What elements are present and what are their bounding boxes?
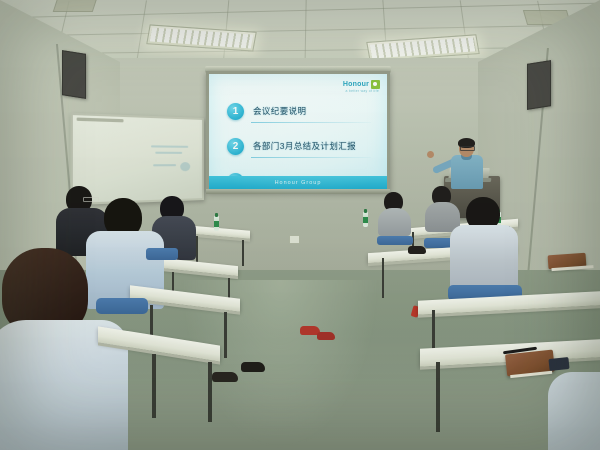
marker-tray	[77, 117, 124, 122]
desk-leg	[224, 312, 227, 358]
smartphone-dark	[548, 357, 569, 371]
wall-speaker-left-icon	[62, 50, 86, 99]
desk-leg	[242, 240, 244, 266]
bullet-text: 会议纪要说明	[253, 105, 306, 117]
slide-footer-bar: Honour Group	[209, 176, 387, 189]
bullet-number-badge: 2	[227, 138, 244, 155]
desk-leg	[208, 362, 212, 422]
screen-bottom-weight-bar	[206, 189, 390, 194]
presenter-torso	[451, 155, 483, 189]
leather-notebook	[548, 253, 587, 270]
bullet-underline	[251, 157, 371, 158]
stacking-chair	[146, 248, 178, 260]
water-bottle-left	[363, 212, 368, 227]
wall-speaker-right-icon	[527, 60, 551, 110]
presenter-hand	[427, 151, 434, 158]
leather-notebook	[505, 350, 555, 377]
stacking-chair	[377, 236, 413, 245]
desk-leg	[436, 362, 440, 432]
dark-shoes	[408, 246, 426, 254]
logo-text: Honour	[343, 81, 369, 88]
attendee-torso	[378, 208, 411, 236]
attendee-torso	[548, 372, 600, 450]
slide-footer-text: Honour Group	[275, 180, 322, 186]
ceiling-vent-left	[53, 0, 98, 12]
presentation-slide: Honour a better way of life 1 会议纪要说明 2 各…	[209, 74, 387, 189]
logo-mark-icon	[371, 80, 380, 89]
water-bottle-center	[214, 216, 219, 231]
bullet-text: 各部门3月总结及计划汇报	[253, 140, 356, 152]
attendee-torso	[450, 225, 518, 291]
whiteboard	[70, 113, 204, 206]
whiteboard-faint-writing	[149, 143, 196, 179]
red-shoes	[317, 332, 335, 340]
desk-leg	[196, 236, 198, 262]
meeting-room-photo: Honour a better way of life 1 会议纪要说明 2 各…	[0, 0, 600, 450]
projection-screen: Honour a better way of life 1 会议纪要说明 2 各…	[206, 71, 390, 192]
slide-bullet-item: 1 会议纪要说明	[227, 102, 375, 132]
wall-power-outlet	[289, 235, 300, 244]
bullet-number-badge: 1	[227, 103, 244, 120]
slide-bullet-item: 2 各部门3月总结及计划汇报	[227, 137, 375, 167]
glasses-icon	[460, 146, 475, 151]
desk-leg	[152, 354, 156, 418]
bullet-underline	[251, 122, 371, 123]
glasses-icon	[83, 197, 99, 202]
dark-shoes	[241, 362, 265, 372]
logo-tagline: a better way of life	[345, 89, 379, 93]
desk-leg	[382, 258, 384, 298]
dark-shoes	[212, 372, 238, 382]
honour-logo: Honour	[343, 80, 380, 89]
stacking-chair	[96, 298, 148, 314]
